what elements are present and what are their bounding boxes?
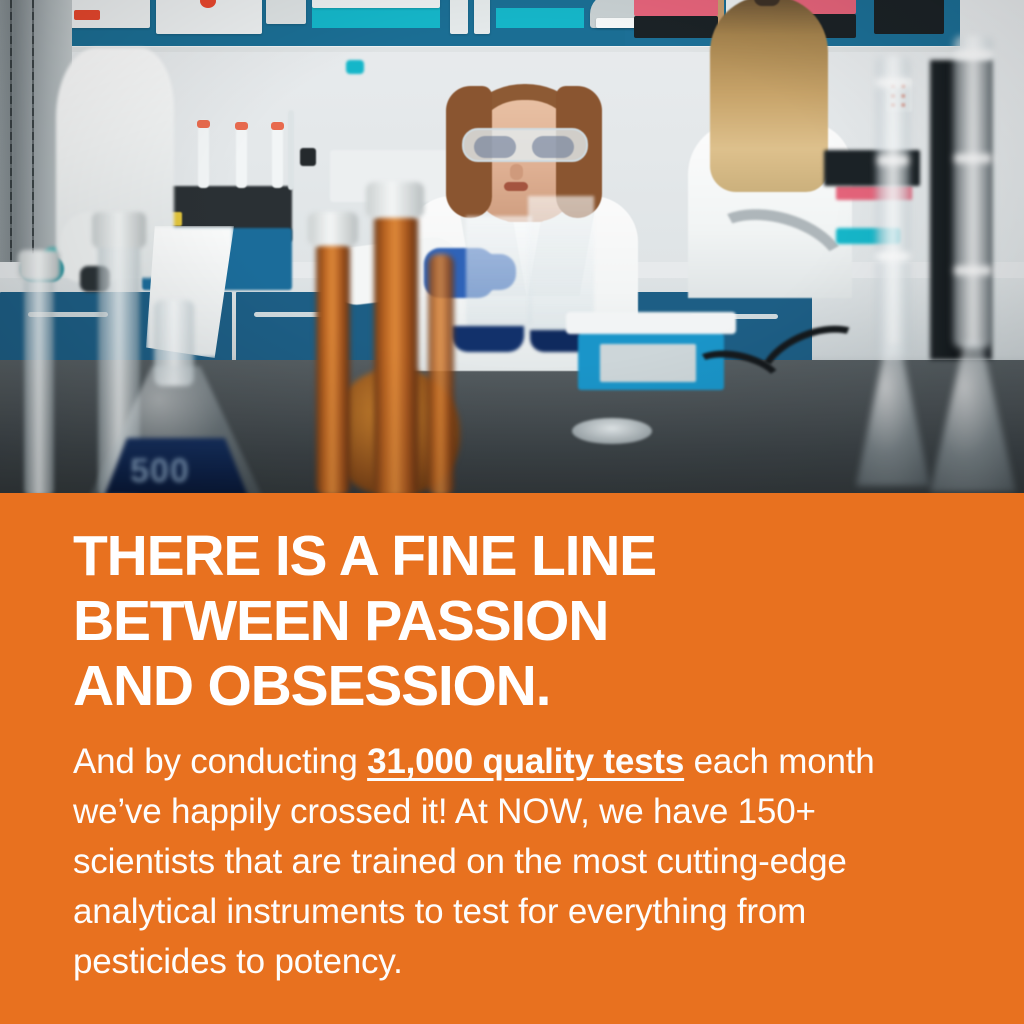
test-tube <box>236 122 247 188</box>
body-text-before: And by conducting <box>73 742 367 781</box>
blue-liquid <box>452 326 524 352</box>
test-tube <box>198 120 209 188</box>
blonde-hair <box>710 0 828 192</box>
volumetric-flask <box>856 56 930 486</box>
amber-glass-column <box>428 254 454 493</box>
headline: THERE IS A FINE LINE BETWEEN PASSION AND… <box>73 524 973 719</box>
scientist-mouth <box>504 182 528 191</box>
safety-goggles <box>462 128 588 162</box>
body-highlight-stat: 31,000 quality tests <box>367 742 684 781</box>
petri-dish <box>572 418 652 444</box>
body-paragraph: And by conducting 31,000 quality tests e… <box>73 737 939 987</box>
tube-cap <box>235 122 248 130</box>
headline-line-2: BETWEEN PASSION <box>73 589 973 654</box>
teal-marker <box>346 60 364 74</box>
headline-line-3: AND OBSESSION. <box>73 654 973 719</box>
scientist-nose <box>510 164 523 180</box>
shelf-red-label <box>74 10 100 20</box>
tube-cap <box>197 120 210 128</box>
graduated-cylinder <box>24 270 54 493</box>
shelf-box <box>266 0 306 24</box>
test-tube <box>272 122 283 188</box>
tube-cap <box>271 122 284 130</box>
social-graphic-canvas: 500 THERE IS A FINE LINE BETWEEN PASSION… <box>0 0 1024 1024</box>
shelf-divider <box>474 0 490 34</box>
foreground-flask-500: 500 <box>88 300 264 493</box>
cylinder-cap <box>92 212 146 248</box>
shelf-box <box>312 0 440 8</box>
shelf-dark-bin <box>874 0 944 34</box>
clamp <box>300 148 316 166</box>
headline-line-1: THERE IS A FINE LINE <box>73 524 973 589</box>
stand-rod <box>288 110 294 190</box>
lab-photo: 500 <box>0 0 1024 493</box>
shelf-teal-tray <box>496 8 584 28</box>
volumetric-flask <box>930 36 1016 492</box>
instrument-panel <box>600 344 696 382</box>
shelf-divider <box>450 0 468 34</box>
goggle-lens <box>532 136 574 158</box>
amber-glass-column <box>374 212 418 493</box>
flask-volume-label: 500 <box>130 452 190 491</box>
instrument-top-plate <box>566 312 736 334</box>
shelf-teal-tray <box>312 6 440 28</box>
cylinder-cap <box>18 250 60 280</box>
goggle-lens <box>474 136 516 158</box>
amber-column-cap <box>308 212 358 246</box>
amber-column-cap <box>366 182 424 218</box>
amber-glass-column <box>316 240 350 493</box>
